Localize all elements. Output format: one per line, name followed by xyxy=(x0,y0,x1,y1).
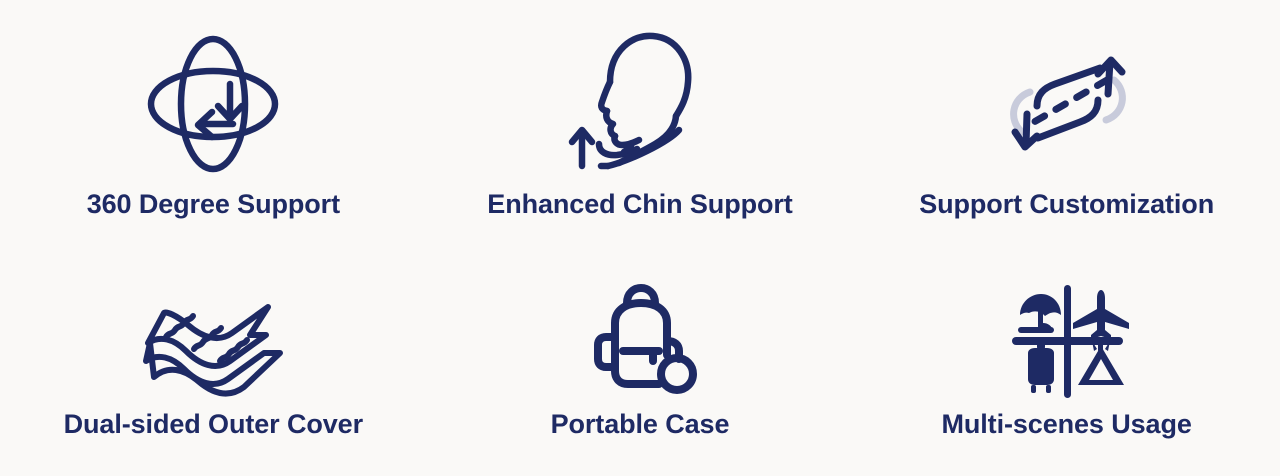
multi-scene-grid-icon-wrapper xyxy=(982,276,1152,406)
head-profile-chin-support-icon xyxy=(555,24,725,184)
feature-grid: 360 Degree Support xyxy=(0,0,1280,476)
feature-item-multi-scenes-usage: Multi-scenes Usage xyxy=(853,256,1280,476)
backpack-case-icon xyxy=(555,279,725,404)
feature-item-support-customization: Support Customization xyxy=(853,0,1280,256)
multi-scene-grid-icon xyxy=(982,279,1152,404)
feature-label-support-customization: Support Customization xyxy=(919,190,1214,220)
adjustable-arrows-icon xyxy=(982,24,1152,184)
rotation-360-icon-wrapper xyxy=(128,24,298,184)
head-profile-chin-support-icon-wrapper xyxy=(555,24,725,184)
tent-icon xyxy=(1078,340,1124,385)
feature-label-360-degree-support: 360 Degree Support xyxy=(87,190,340,220)
airplane-icon xyxy=(1073,290,1129,339)
suitcase-icon xyxy=(1028,342,1054,393)
feature-item-portable-case: Portable Case xyxy=(427,256,854,476)
feature-label-enhanced-chin-support: Enhanced Chin Support xyxy=(487,190,792,220)
feature-item-enhanced-chin-support: Enhanced Chin Support xyxy=(427,0,854,256)
feature-item-dual-sided-outer-cover: Dual-sided Outer Cover xyxy=(0,256,427,476)
feature-label-multi-scenes-usage: Multi-scenes Usage xyxy=(942,410,1192,440)
adjustable-arrows-icon-wrapper xyxy=(982,24,1152,184)
layered-fabric-icon-wrapper xyxy=(128,276,298,406)
layered-fabric-icon xyxy=(128,279,298,404)
backpack-case-icon-wrapper xyxy=(555,276,725,406)
feature-label-portable-case: Portable Case xyxy=(551,410,730,440)
feature-item-360-degree-support: 360 Degree Support xyxy=(0,0,427,256)
beach-umbrella-icon xyxy=(1018,294,1061,333)
rotation-360-icon xyxy=(128,24,298,184)
feature-label-dual-sided-outer-cover: Dual-sided Outer Cover xyxy=(64,410,363,440)
